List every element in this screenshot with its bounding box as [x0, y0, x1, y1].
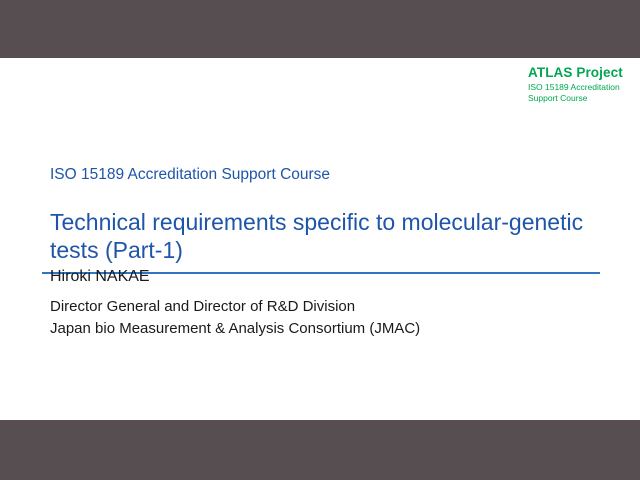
slide-deck: ATLAS Project ISO 15189 Accreditation Su… — [0, 0, 640, 480]
course-eyebrow: ISO 15189 Accreditation Support Course — [50, 166, 330, 184]
author-organization: Japan bio Measurement & Analysis Consort… — [50, 318, 420, 340]
author-block: Hiroki NAKAE Director General and Direct… — [50, 266, 420, 340]
project-header-title: ATLAS Project — [528, 65, 624, 80]
author-name: Hiroki NAKAE — [50, 266, 420, 288]
project-header-subtitle: ISO 15189 Accreditation Support Course — [528, 82, 624, 103]
letterbox-band-bottom — [0, 420, 640, 480]
letterbox-band-top — [0, 0, 640, 58]
page-title: Technical requirements specific to molec… — [50, 208, 602, 264]
title-slide: ATLAS Project ISO 15189 Accreditation Su… — [0, 58, 640, 420]
author-role: Director General and Director of R&D Div… — [50, 296, 420, 318]
project-header: ATLAS Project ISO 15189 Accreditation Su… — [528, 65, 624, 103]
